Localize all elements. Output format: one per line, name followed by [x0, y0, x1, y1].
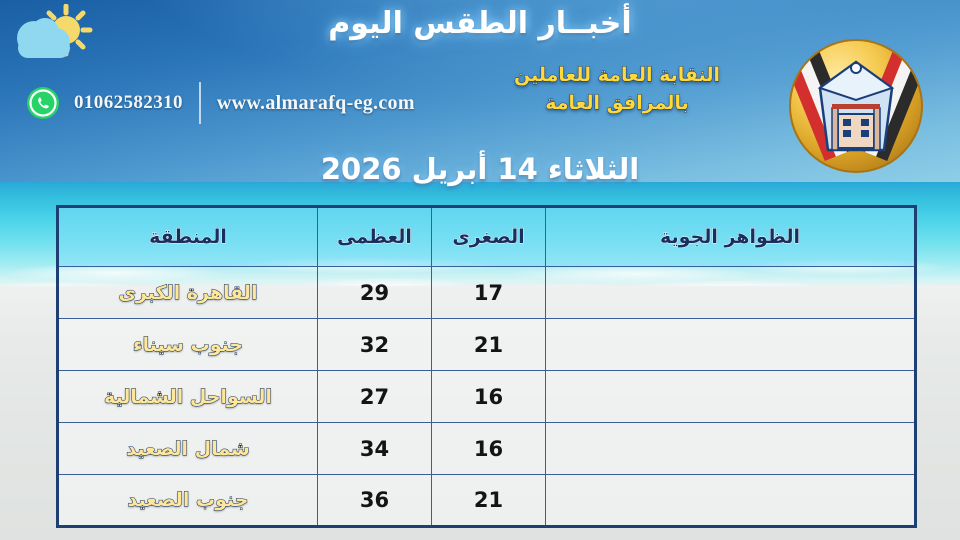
column-header-max: العظمى — [318, 207, 432, 267]
cell-phenomena — [546, 371, 916, 423]
table-row: 16 27 السواحل الشمالية — [58, 371, 916, 423]
cell-min-temp: 16 — [432, 371, 546, 423]
cell-max-temp: 27 — [318, 371, 432, 423]
cell-region: جنوب الصعيد — [58, 475, 318, 527]
cell-max-temp: 32 — [318, 319, 432, 371]
table-row: 16 34 شمال الصعيد — [58, 423, 916, 475]
cell-phenomena — [546, 319, 916, 371]
cell-min-temp: 21 — [432, 475, 546, 527]
phone-number[interactable]: 01062582310 — [74, 92, 183, 114]
cell-region: القاهرة الكبرى — [58, 267, 318, 319]
report-date: الثلاثاء 14 أبريل 2026 — [0, 152, 960, 186]
table-header-row: الظواهر الجوية الصغرى العظمى المنطقة — [58, 207, 916, 267]
column-header-min: الصغرى — [432, 207, 546, 267]
cell-region: شمال الصعيد — [58, 423, 318, 475]
table-row: 21 36 جنوب الصعيد — [58, 475, 916, 527]
organization-name-line2: بالمرافق العامة — [452, 90, 782, 118]
table-row: 17 29 القاهرة الكبرى — [58, 267, 916, 319]
cell-phenomena — [546, 267, 916, 319]
cell-min-temp: 16 — [432, 423, 546, 475]
cell-min-temp: 21 — [432, 319, 546, 371]
weather-table: الظواهر الجوية الصغرى العظمى المنطقة 17 … — [56, 205, 917, 528]
cell-max-temp: 34 — [318, 423, 432, 475]
cell-region: جنوب سيناء — [58, 319, 318, 371]
organization-name-line1: النقابة العامة للعاملين — [452, 62, 782, 90]
organization-name: النقابة العامة للعاملين بالمرافق العامة — [452, 62, 782, 117]
table-row: 21 32 جنوب سيناء — [58, 319, 916, 371]
whatsapp-icon[interactable] — [26, 86, 60, 120]
weather-table-head: الظواهر الجوية الصغرى العظمى المنطقة — [58, 207, 916, 267]
weather-report-poster: أخبــار الطقس اليوم 01062582310 www.alma… — [0, 0, 960, 540]
cell-phenomena — [546, 423, 916, 475]
weather-table-body: 17 29 القاهرة الكبرى 21 32 جنوب سيناء 16… — [58, 267, 916, 527]
cell-region: السواحل الشمالية — [58, 371, 318, 423]
column-header-phenomena: الظواهر الجوية — [546, 207, 916, 267]
cell-max-temp: 29 — [318, 267, 432, 319]
cell-max-temp: 36 — [318, 475, 432, 527]
website-url[interactable]: www.almarafq-eg.com — [217, 92, 415, 115]
cell-phenomena — [546, 475, 916, 527]
contact-divider — [199, 82, 201, 124]
contact-bar: 01062582310 www.almarafq-eg.com — [26, 82, 415, 124]
column-header-region: المنطقة — [58, 207, 318, 267]
cell-min-temp: 17 — [432, 267, 546, 319]
page-title: أخبــار الطقس اليوم — [0, 6, 960, 41]
